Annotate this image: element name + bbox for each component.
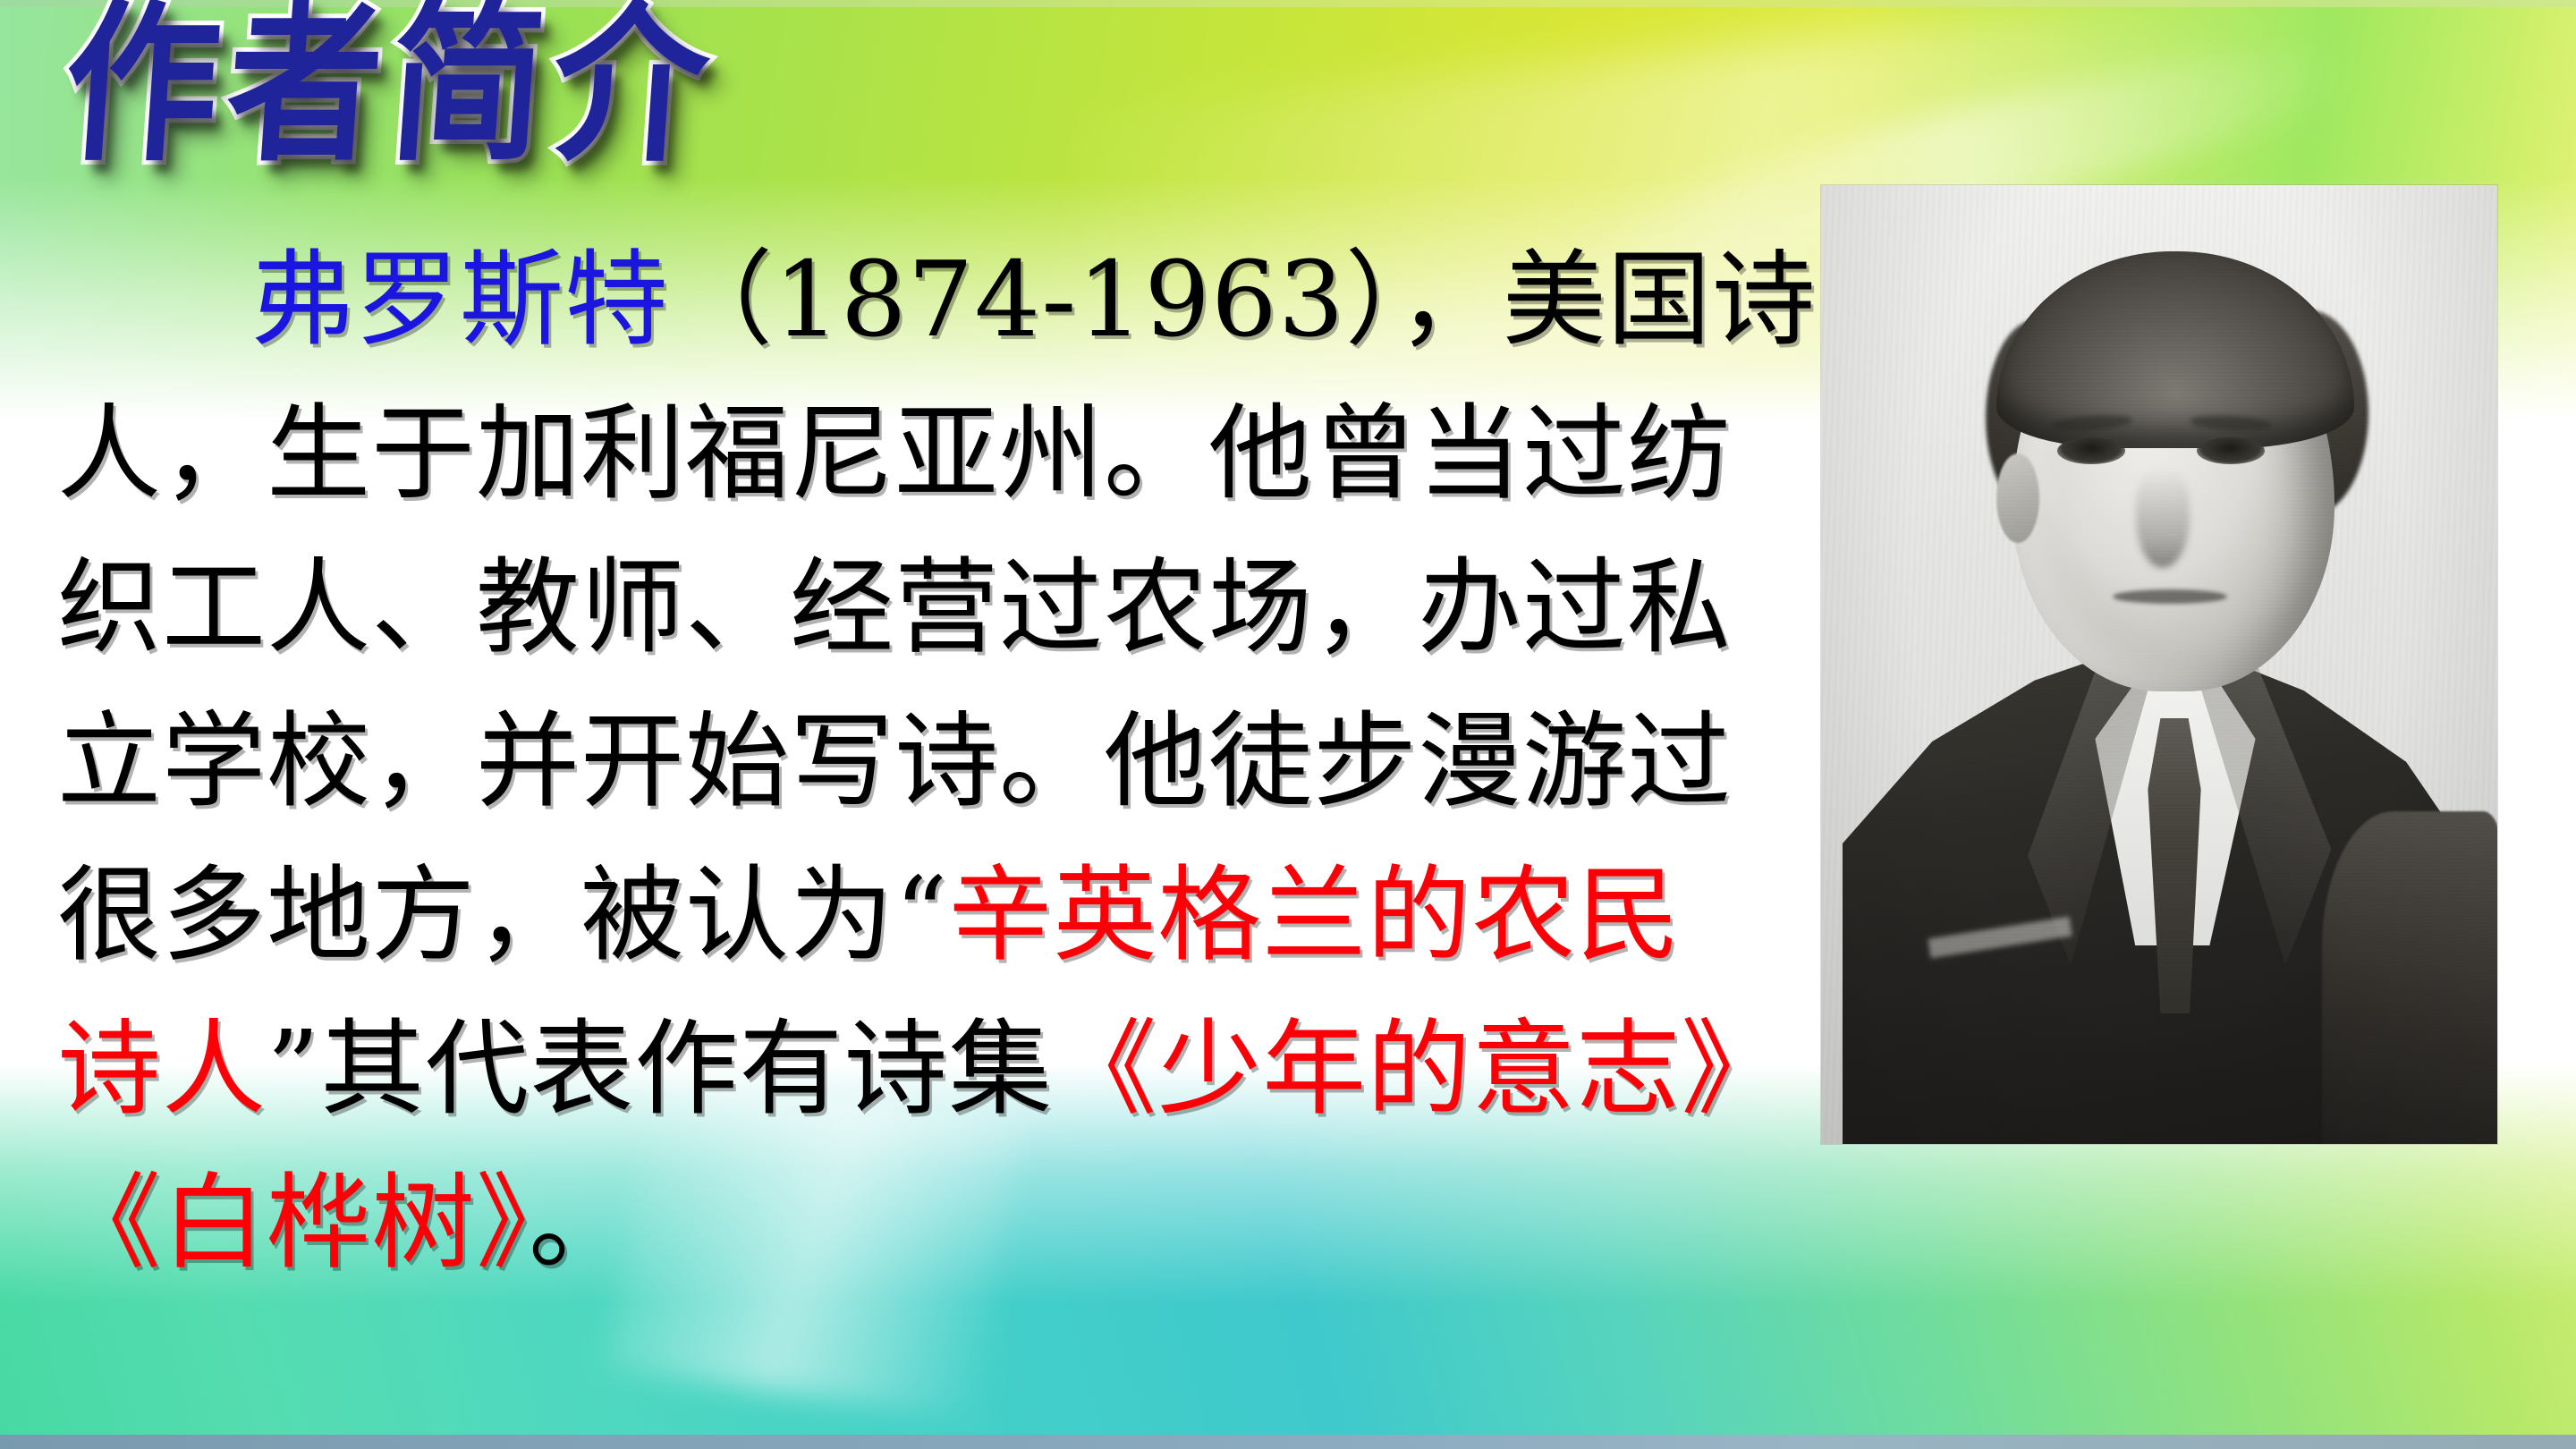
bio-line-1: 弗罗斯特（1874-1963），美国诗 (57, 224, 1837, 377)
background-bottom-edge-line (0, 1435, 2576, 1449)
slide-canvas: 作者简介 弗罗斯特（1874-1963），美国诗人，生于加利福尼亚州。他曾当过纺… (0, 0, 2576, 1449)
bio-run-black: 立学校，并开始写诗。他徒步漫游过 (57, 701, 1732, 822)
bio-run-red: 诗人 (57, 1009, 267, 1130)
bio-run-black: ”其代表作有诗集 (267, 1009, 1053, 1130)
bio-run-blue: 弗罗斯特 (250, 240, 669, 360)
bio-run-black: 织工人、教师、经营过农场，办过私 (57, 547, 1732, 668)
bio-line-2: 人，生于加利福尼亚州。他曾当过纺 (57, 377, 1837, 531)
bio-run-red: 辛英格兰的农民 (948, 855, 1681, 976)
bio-run-black: 人，生于加利福尼亚州。他曾当过纺 (57, 394, 1732, 514)
bio-line-4: 立学校，并开始写诗。他徒步漫游过 (57, 685, 1837, 839)
author-portrait-photo (1821, 185, 2497, 1144)
bio-line-5: 很多地方，被认为“辛英格兰的农民 (57, 839, 1837, 993)
bio-run-black: 。 (529, 1163, 633, 1284)
bio-line-6: 诗人”其代表作有诗集《少年的意志》 (57, 993, 1837, 1147)
bio-run-black: （1874-1963），美国诗 (669, 240, 1817, 360)
bio-line-7: 《白桦树》。 (57, 1147, 1837, 1301)
bio-line-3: 织工人、教师、经营过农场，办过私 (57, 531, 1837, 685)
author-bio-paragraph: 弗罗斯特（1874-1963），美国诗人，生于加利福尼亚州。他曾当过纺织工人、教… (57, 224, 1837, 1301)
bio-run-red: 《少年的意志》 (1053, 1009, 1785, 1130)
photo-vignette-overlay (1821, 185, 2497, 1144)
bio-run-black: 很多地方，被认为“ (57, 855, 948, 976)
bio-run-red: 《白桦树》 (57, 1163, 529, 1284)
page-title: 作者简介 (59, 0, 723, 175)
